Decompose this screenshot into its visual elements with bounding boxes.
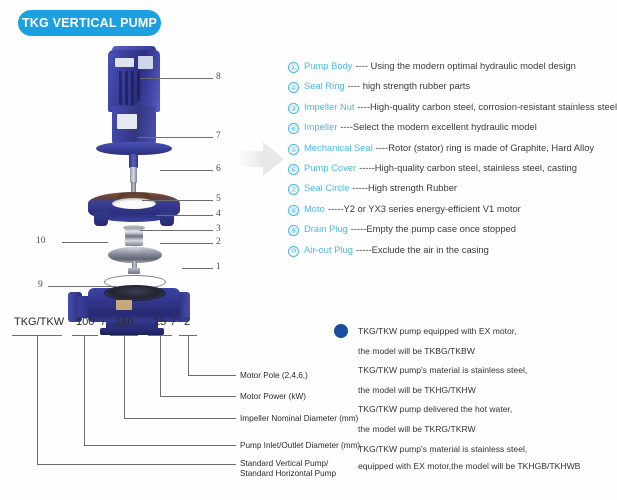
legend-item-drain-plug: ⑨ Drain Plug -----Empty the pump case on…: [288, 223, 613, 243]
arrow-tail: [238, 151, 265, 167]
model-connector-series: [37, 464, 236, 465]
legend-number-icon: ④: [288, 123, 299, 134]
motor-fin: [125, 71, 128, 105]
model-drop-power: [160, 335, 161, 396]
legend-part-name: Seal Circle: [304, 182, 349, 193]
legend-item-pump-body: ① Pump Body ---- Using the modern optima…: [288, 60, 613, 80]
leader-line-6: [160, 170, 213, 171]
legend-part-desc: ---- high strength rubber parts: [348, 80, 470, 91]
model-label-pole: Motor Pole (2,4,6,): [240, 370, 308, 381]
legend-number-icon: ⑦: [288, 184, 299, 195]
callout-number-6: 6: [216, 164, 221, 174]
note-line: equipped with EX motor,the model will be…: [358, 460, 614, 473]
note-line: TKG/TKW pump delivered the hot water,: [358, 400, 614, 420]
legend-part-name: Mechanical Seal: [304, 142, 373, 153]
motor-lower-plate: [117, 114, 137, 129]
legend-part-desc: -----Exclude the air in the casing: [356, 244, 489, 255]
legend-part-name: Seal Ring: [304, 80, 345, 91]
legend-item-air-out-plug: ⑩ Air-out Plug -----Exclude the air in t…: [288, 244, 613, 264]
legend-item-pump-cover: ⑥ Pump Cover -----High-quality carbon st…: [288, 162, 613, 182]
callout-number-4: 4: [216, 209, 221, 219]
motor-nameplate: [115, 58, 134, 67]
legend-part-desc: -----High-quality carbon steel, stainles…: [359, 162, 577, 173]
callout-number-1: 1: [216, 262, 221, 272]
legend-number-icon: ⑨: [288, 225, 299, 236]
bullet-dot-icon: [334, 324, 348, 338]
model-drop-impeller: [124, 335, 125, 418]
motor-fin: [119, 71, 122, 105]
legend-part-name: Moto: [304, 203, 325, 214]
legend-part-name: Pump Body: [304, 60, 352, 71]
shaft-coupling: [129, 154, 138, 168]
legend-item-impeller: ④ Impeller ----Select the modern excelle…: [288, 121, 613, 141]
pump-body-nameplate: [116, 300, 132, 310]
product-spec-sheet: TKG VERTICAL PUMP: [0, 0, 617, 500]
legend-item-impeller-nut: ③ Impeller Nut ----High-quality carbon s…: [288, 101, 613, 121]
legend-part-desc: ----Select the modern excellent hydrauli…: [340, 121, 536, 132]
model-segment-inlet: 100: [76, 316, 94, 328]
callout-number-7: 7: [216, 131, 221, 141]
note-line: the model will be TKHG/TKHW: [358, 381, 614, 401]
leader-line-2: [160, 243, 213, 244]
legend-part-name: Drain Plug: [304, 223, 348, 234]
leader-line-5: [142, 200, 213, 201]
motor-terminal-box: [138, 56, 153, 69]
model-connector-impeller: [124, 418, 236, 419]
model-segment-power: 15: [154, 316, 166, 328]
legend-part-name: Pump Cover: [304, 162, 356, 173]
motor-fin: [137, 71, 140, 101]
leader-line-3: [140, 230, 213, 231]
legend-number-icon: ②: [288, 82, 299, 93]
right-arrow-icon: [238, 142, 284, 176]
model-code-breakdown: TKG/TKW 100 / 160 - 15 / 2 Motor Pole (2…: [14, 316, 314, 491]
leader-line-10: [62, 242, 108, 243]
legend-number-icon: ⑤: [288, 144, 299, 155]
legend-part-desc: -----Empty the pump case once stopped: [351, 223, 516, 234]
legend-part-desc: -----High strength Rubber: [352, 182, 457, 193]
note-line: TKG/TKW pump's material is stainless ste…: [358, 443, 614, 456]
model-drop-series: [37, 335, 38, 464]
callout-number-3: 3: [216, 224, 221, 234]
legend-part-desc: -----Y2 or YX3 series energy-efficient V…: [328, 203, 521, 214]
legend-item-mechanical-seal: ⑤ Mechanical Seal ----Rotor (stator) rin…: [288, 142, 613, 162]
legend-part-name: Impeller: [304, 121, 337, 132]
model-segment-impeller: 160: [115, 316, 133, 328]
leader-line-9: [48, 286, 116, 287]
callout-number-5: 5: [216, 194, 221, 204]
note-line: TKG/TKW pump equipped with EX motor,: [358, 322, 614, 342]
note-line: TKG/TKW pump's material is stainless ste…: [358, 361, 614, 381]
page-title-pill: TKG VERTICAL PUMP: [18, 10, 161, 36]
legend-part-desc: ---- Using the modern optimal hydraulic …: [355, 60, 575, 71]
leader-line-8: [140, 78, 213, 79]
leader-line-1: [182, 268, 213, 269]
legend-item-moto: ⑧ Moto -----Y2 or YX3 series energy-effi…: [288, 203, 613, 223]
model-label-standard-horizontal: Standard Horizontal Pump: [240, 468, 336, 479]
note-line: the model will be TKBG/TKBW: [358, 342, 614, 362]
model-label-power: Motor Power (kW): [240, 391, 306, 402]
legend-item-seal-circle: ⑦ Seal Circle -----High strength Rubber: [288, 182, 613, 202]
parts-legend-list: ① Pump Body ---- Using the modern optima…: [288, 60, 613, 264]
callout-number-10: 10: [36, 236, 46, 246]
impeller-stem: [132, 261, 137, 268]
legend-number-icon: ①: [288, 62, 299, 73]
leader-line-7: [138, 137, 213, 138]
model-connector-power: [160, 396, 236, 397]
callout-number-2: 2: [216, 237, 221, 247]
legend-part-name: Air-out Plug: [304, 244, 353, 255]
impeller-nut: [128, 268, 140, 274]
pump-cover-leg: [94, 212, 108, 226]
pump-exploded-diagram: 8 7 6 5 4 3 2 1 10 9: [20, 42, 245, 302]
legend-item-seal-ring: ② Seal Ring ---- high strength rubber pa…: [288, 80, 613, 100]
legend-part-desc: ----Rotor (stator) ring is made of Graph…: [376, 142, 594, 153]
legend-number-icon: ⑧: [288, 205, 299, 216]
model-drop-inlet: [84, 335, 85, 445]
legend-number-icon: ⑩: [288, 246, 299, 257]
legend-number-icon: ⑥: [288, 164, 299, 175]
model-segment-pole: 2: [184, 316, 190, 328]
model-drop-pole: [188, 335, 189, 375]
model-separator-3: /: [172, 316, 175, 328]
model-connector-pole: [188, 375, 236, 376]
legend-number-icon: ③: [288, 103, 299, 114]
motor-fin: [131, 71, 134, 105]
model-variant-notes: TKG/TKW pump equipped with EX motor, the…: [334, 322, 614, 472]
arrow-head: [263, 142, 284, 176]
model-segment-series: TKG/TKW: [14, 316, 64, 328]
shaft-middle: [130, 167, 137, 183]
model-separator-1: /: [102, 316, 105, 328]
model-connector-inlet: [84, 445, 236, 446]
callout-number-9: 9: [38, 280, 43, 290]
legend-part-desc: ----High-quality carbon steel, corrosion…: [358, 101, 617, 112]
note-line: the model will be TKRG/TKRW: [358, 420, 614, 440]
legend-part-name: Impeller Nut: [304, 101, 355, 112]
pump-body-bore: [104, 285, 166, 301]
model-separator-2: -: [142, 316, 146, 328]
callout-number-8: 8: [216, 72, 221, 82]
page-title: TKG VERTICAL PUMP: [22, 16, 157, 30]
leader-line-4: [156, 215, 213, 216]
model-underline-inlet: [72, 335, 98, 336]
impeller-hub: [128, 246, 141, 254]
